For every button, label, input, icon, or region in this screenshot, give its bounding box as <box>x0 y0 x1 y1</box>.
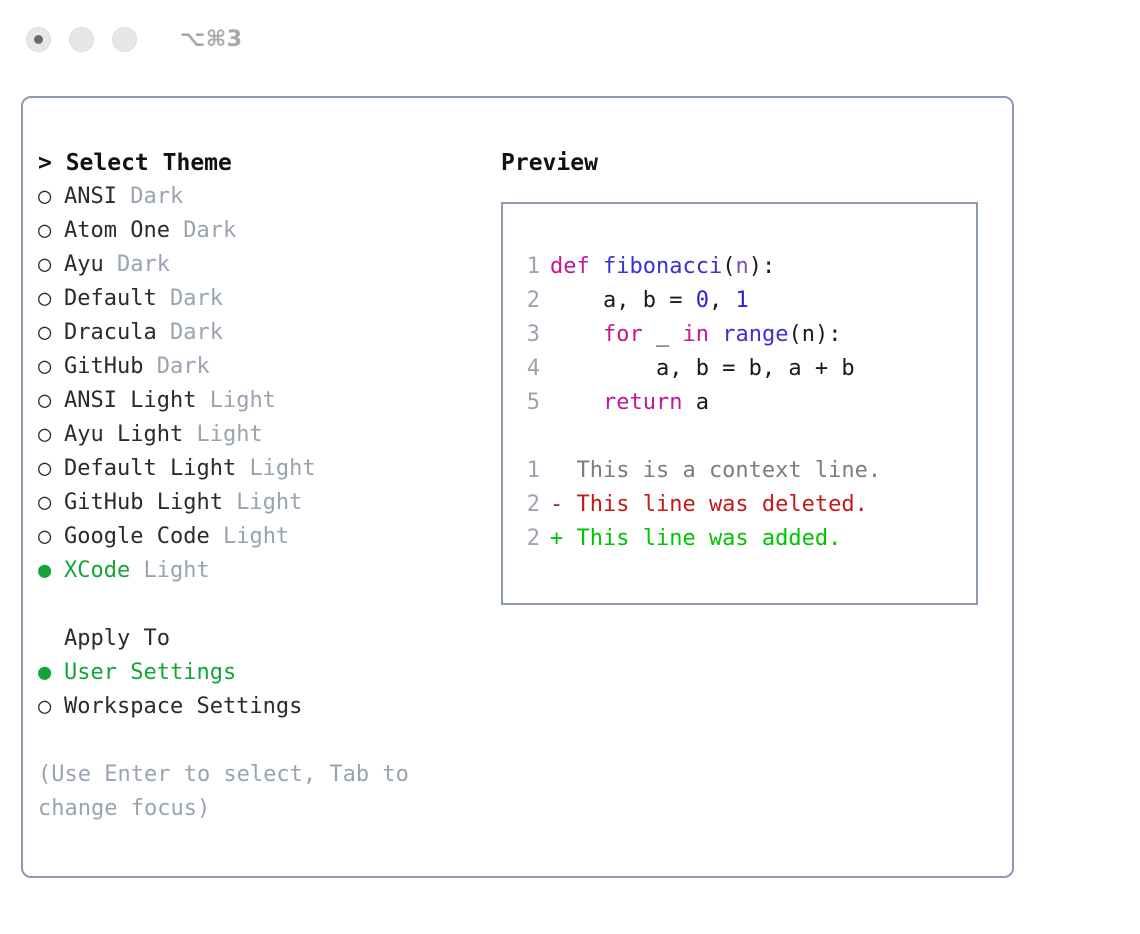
code-token: return <box>603 390 682 415</box>
code-line: 1def fibonacci(n): <box>512 250 881 284</box>
code-token: fibonacci <box>603 254 722 279</box>
theme-option-google-code[interactable]: ○Google Code Light <box>38 520 488 554</box>
code-token <box>590 254 603 279</box>
code-preview: 1def fibonacci(n):2 a, b = 0, 13 for _ i… <box>512 250 881 556</box>
theme-option-label: GitHub Light <box>64 490 236 515</box>
theme-option-dracula[interactable]: ○Dracula Dark <box>38 316 488 350</box>
diff-line-text: + This line was added. <box>550 526 841 551</box>
apply-to-options-list: ●User Settings○Workspace Settings <box>38 656 488 724</box>
code-token: ( <box>722 254 735 279</box>
theme-variant-label: Dark <box>157 354 210 379</box>
theme-option-label: ANSI <box>64 184 130 209</box>
theme-selector-panel: > Select Theme ○ANSI Dark○Atom One Dark○… <box>21 96 1014 878</box>
preview-column: Preview 1def fibonacci(n):2 a, b = 0, 13… <box>501 146 1001 605</box>
theme-variant-label: Light <box>223 524 289 549</box>
theme-variant-label: Dark <box>117 252 170 277</box>
code-token <box>709 322 722 347</box>
line-number: 5 <box>512 386 540 420</box>
code-token: n <box>735 254 748 279</box>
code-token: a <box>682 390 709 415</box>
theme-options-list: ○ANSI Dark○Atom One Dark○Ayu Dark○Defaul… <box>38 180 488 588</box>
theme-option-atom-one[interactable]: ○Atom One Dark <box>38 214 488 248</box>
code-token: , <box>709 288 736 313</box>
theme-option-ayu[interactable]: ○Ayu Dark <box>38 248 488 282</box>
diff-line-text: - This line was deleted. <box>550 492 868 517</box>
theme-option-label: Atom One <box>64 218 183 243</box>
code-token: for <box>603 322 643 347</box>
code-token <box>550 390 603 415</box>
diff-line: 2- This line was deleted. <box>512 488 881 522</box>
theme-option-label: GitHub <box>64 354 157 379</box>
apply-to-header: Apply To <box>38 622 488 656</box>
radio-unselected-icon: ○ <box>38 486 64 520</box>
theme-variant-label: Dark <box>183 218 236 243</box>
radio-unselected-icon: ○ <box>38 690 64 724</box>
radio-unselected-icon: ○ <box>38 214 64 248</box>
keyboard-shortcut-label: ⌥⌘3 <box>180 27 243 52</box>
code-line: 4 a, b = b, a + b <box>512 352 881 386</box>
theme-variant-label: Light <box>143 558 209 583</box>
line-number: 2 <box>512 522 540 556</box>
theme-option-default[interactable]: ○Default Dark <box>38 282 488 316</box>
code-token: ): <box>749 254 776 279</box>
theme-variant-label: Dark <box>130 184 183 209</box>
radio-unselected-icon: ○ <box>38 452 64 486</box>
window-button-maximize[interactable] <box>112 27 137 52</box>
theme-variant-label: Dark <box>170 286 223 311</box>
window-button-close-dot <box>34 35 43 44</box>
radio-unselected-icon: ○ <box>38 418 64 452</box>
section-spacer <box>38 588 488 622</box>
theme-option-label: ANSI Light <box>64 388 210 413</box>
theme-option-ayu-light[interactable]: ○Ayu Light Light <box>38 418 488 452</box>
keyboard-hint-text: (Use Enter to select, Tab to change focu… <box>38 758 458 826</box>
window-button-close[interactable] <box>26 27 51 52</box>
code-blank-line <box>512 420 881 454</box>
theme-list-column: > Select Theme ○ANSI Dark○Atom One Dark○… <box>38 146 488 826</box>
theme-variant-label: Light <box>236 490 302 515</box>
code-line: 3 for _ in range(n): <box>512 318 881 352</box>
radio-unselected-icon: ○ <box>38 282 64 316</box>
apply-to-option-label: Workspace Settings <box>64 694 302 719</box>
line-number: 1 <box>512 454 540 488</box>
code-token: range <box>722 322 788 347</box>
diff-line: 2+ This line was added. <box>512 522 881 556</box>
code-token: 0 <box>696 288 709 313</box>
theme-option-xcode[interactable]: ●XCode Light <box>38 554 488 588</box>
code-token: in <box>682 322 709 347</box>
theme-option-label: Default <box>64 286 170 311</box>
preview-box: 1def fibonacci(n):2 a, b = 0, 13 for _ i… <box>501 202 978 605</box>
code-line: 2 a, b = 0, 1 <box>512 284 881 318</box>
code-token: _ <box>643 322 683 347</box>
code-token: a, b = b, a + b <box>550 356 855 381</box>
window-title-bar: ⌥⌘3 <box>0 0 1140 78</box>
theme-option-label: Ayu <box>64 252 117 277</box>
code-token: def <box>550 254 590 279</box>
code-token: 1 <box>735 288 748 313</box>
theme-variant-label: Dark <box>170 320 223 345</box>
radio-unselected-icon: ○ <box>38 248 64 282</box>
diff-line: 1 This is a context line. <box>512 454 881 488</box>
theme-variant-label: Light <box>249 456 315 481</box>
theme-variant-label: Light <box>196 422 262 447</box>
code-token: (n): <box>788 322 841 347</box>
radio-unselected-icon: ○ <box>38 520 64 554</box>
theme-variant-label: Light <box>210 388 276 413</box>
line-number: 2 <box>512 488 540 522</box>
theme-option-github[interactable]: ○GitHub Dark <box>38 350 488 384</box>
theme-option-default-light[interactable]: ○Default Light Light <box>38 452 488 486</box>
line-number: 3 <box>512 318 540 352</box>
theme-option-label: Dracula <box>64 320 170 345</box>
theme-option-github-light[interactable]: ○GitHub Light Light <box>38 486 488 520</box>
apply-to-option-user-settings[interactable]: ●User Settings <box>38 656 488 690</box>
theme-option-label: Default Light <box>64 456 249 481</box>
radio-unselected-icon: ○ <box>38 180 64 214</box>
diff-line-text: This is a context line. <box>550 458 881 483</box>
radio-selected-icon: ● <box>38 554 64 588</box>
radio-selected-icon: ● <box>38 656 64 690</box>
preview-header: Preview <box>501 146 1001 180</box>
radio-unselected-icon: ○ <box>38 384 64 418</box>
theme-option-ansi[interactable]: ○ANSI Dark <box>38 180 488 214</box>
theme-option-label: XCode <box>64 558 143 583</box>
line-number: 4 <box>512 352 540 386</box>
radio-unselected-icon: ○ <box>38 316 64 350</box>
radio-unselected-icon: ○ <box>38 350 64 384</box>
line-number: 2 <box>512 284 540 318</box>
theme-option-label: Ayu Light <box>64 422 196 447</box>
apply-to-option-label: User Settings <box>64 660 236 685</box>
window-button-minimize[interactable] <box>69 27 94 52</box>
theme-option-label: Google Code <box>64 524 223 549</box>
code-token: a, b = <box>550 288 696 313</box>
code-token <box>550 322 603 347</box>
line-number: 1 <box>512 250 540 284</box>
theme-option-ansi-light[interactable]: ○ANSI Light Light <box>38 384 488 418</box>
apply-to-option-workspace-settings[interactable]: ○Workspace Settings <box>38 690 488 724</box>
window-controls <box>26 27 137 52</box>
code-line: 5 return a <box>512 386 881 420</box>
select-theme-header: > Select Theme <box>38 146 488 180</box>
